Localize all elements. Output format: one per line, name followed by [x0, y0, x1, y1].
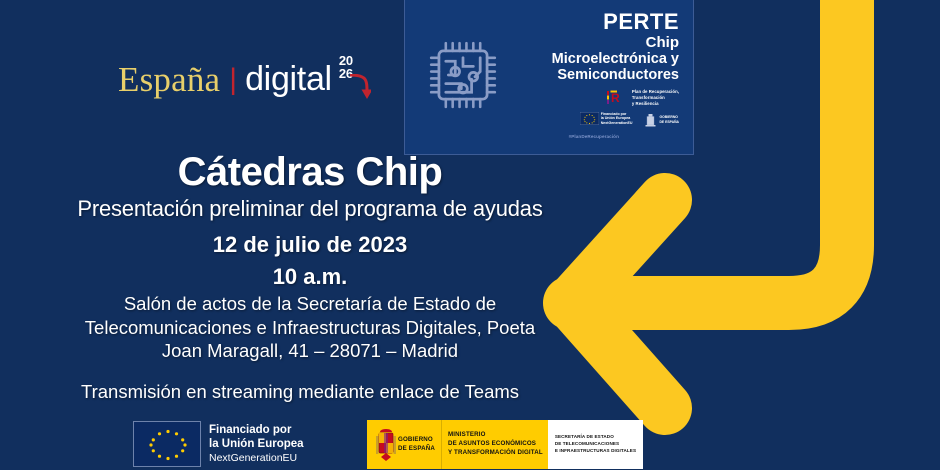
- perte-mini-logos: Financiado por la Unión Europea NextGene…: [580, 112, 679, 128]
- perte-title: PERTE: [513, 10, 679, 33]
- spain-coat-of-arms-icon: [644, 112, 657, 128]
- eu-flag-icon: [580, 112, 599, 125]
- event-heading-block: Cátedras Chip Presentación preliminar de…: [0, 150, 620, 290]
- perte-line-semiconductores: Semiconductores: [513, 67, 679, 84]
- logo-year-top: 20: [339, 54, 373, 67]
- gobierno-mini-line-2: DE ESPAÑA: [659, 120, 679, 124]
- eu-stars-circle-icon: [134, 422, 202, 468]
- plan-recuperacion-hashtag: #PlanDeRecuperación: [569, 134, 619, 139]
- eu-funding-text: Financiado por la Unión Europea NextGene…: [209, 423, 304, 466]
- gobierno-line-1: GOBIERNO: [398, 436, 435, 445]
- espana-digital-logo: España | digital 20 26: [118, 62, 373, 97]
- secretaria-line-3: E INFRAESTRUCTURAS DIGITALES: [555, 448, 636, 455]
- venue-line-2: Telecomunicaciones e Infraestructuras Di…: [0, 316, 620, 340]
- logo-divider-line: [441, 420, 442, 469]
- ministerio-line-1: MINISTERIO: [448, 431, 543, 440]
- eu-funding-line-2: la Unión Europea: [209, 437, 304, 451]
- secretaria-text: SECRETARÍA DE ESTADO DE TELECOMUNICACION…: [555, 434, 636, 455]
- eu-funding-line-3: NextGenerationEU: [209, 452, 304, 466]
- perte-logo-row: R Plan de Recuperación, Transformación y…: [513, 89, 679, 138]
- prtr-logo-text: Plan de Recuperación, Transformación y R…: [632, 89, 679, 106]
- spain-coat-of-arms-icon: [374, 427, 398, 463]
- perte-line-microelectronica: Microelectrónica y: [513, 51, 679, 68]
- government-logo-block: GOBIERNO DE ESPAÑA MINISTERIO DE ASUNTOS…: [367, 420, 643, 469]
- event-time: 10 a.m.: [0, 264, 620, 290]
- page-title: Cátedras Chip: [0, 150, 620, 194]
- gobierno-de-espana-text: GOBIERNO DE ESPAÑA: [398, 436, 435, 454]
- eu-mini-logo: Financiado por la Unión Europea NextGene…: [580, 112, 633, 126]
- ministerio-line-2: DE ASUNTOS ECONÓMICOS: [448, 440, 543, 449]
- chip-icon-container: [405, 32, 513, 118]
- gobierno-mini-text: GOBIERNO DE ESPAÑA: [659, 115, 679, 124]
- event-subtitle: Presentación preliminar del programa de …: [0, 196, 620, 222]
- eu-funding-line-1: Financiado por: [209, 423, 304, 437]
- event-date: 12 de julio de 2023: [0, 232, 620, 258]
- eu-flag-icon: [133, 421, 201, 467]
- secretaria-white-panel: SECRETARÍA DE ESTADO DE TELECOMUNICACION…: [548, 420, 643, 469]
- government-yellow-panel: GOBIERNO DE ESPAÑA MINISTERIO DE ASUNTOS…: [367, 420, 548, 469]
- ministerio-line-3: Y TRANSFORMACIÓN DIGITAL: [448, 449, 543, 458]
- perte-chip-panel: PERTE Chip Microelectrónica y Semiconduc…: [404, 0, 694, 155]
- logo-digital-word: digital: [245, 62, 332, 97]
- microchip-circuit-icon: [420, 32, 506, 118]
- ministerio-text: MINISTERIO DE ASUNTOS ECONÓMICOS Y TRANS…: [448, 431, 543, 458]
- event-venue-block: Salón de actos de la Secretaría de Estad…: [0, 292, 620, 363]
- perte-text-block: PERTE Chip Microelectrónica y Semiconduc…: [513, 10, 693, 138]
- eu-mini-line-3: NextGenerationEU: [601, 121, 633, 126]
- eu-funding-logo: Financiado por la Unión Europea NextGene…: [133, 421, 304, 467]
- venue-line-1: Salón de actos de la Secretaría de Estad…: [0, 292, 620, 316]
- gobierno-mini-logo: GOBIERNO DE ESPAÑA: [644, 112, 679, 128]
- curved-down-arrow-icon: [347, 74, 371, 100]
- prtr-line-3: y Resiliencia: [632, 101, 679, 107]
- streaming-note: Transmisión en streaming mediante enlace…: [0, 381, 600, 403]
- gobierno-line-2: DE ESPAÑA: [398, 445, 435, 454]
- svg-text:R: R: [611, 91, 620, 105]
- logo-divider: |: [229, 64, 237, 96]
- venue-line-3: Joan Maragall, 41 – 28071 – Madrid: [0, 339, 620, 363]
- eu-mini-text: Financiado por la Unión Europea NextGene…: [601, 112, 633, 126]
- prtr-logo: R Plan de Recuperación, Transformación y…: [607, 89, 679, 106]
- logo-espana-word: España: [118, 62, 220, 97]
- perte-line-chip: Chip: [513, 34, 679, 51]
- secretaria-line-2: DE TELECOMUNICACIONES: [555, 441, 636, 448]
- gobierno-mini-line-1: GOBIERNO: [659, 115, 679, 119]
- secretaria-line-1: SECRETARÍA DE ESTADO: [555, 434, 636, 441]
- prtr-flag-mark-icon: R: [607, 90, 629, 105]
- logo-year-block: 20 26: [339, 54, 373, 96]
- coat-of-arms-container: [373, 427, 398, 463]
- poster-canvas: España | digital 20 26: [0, 0, 940, 470]
